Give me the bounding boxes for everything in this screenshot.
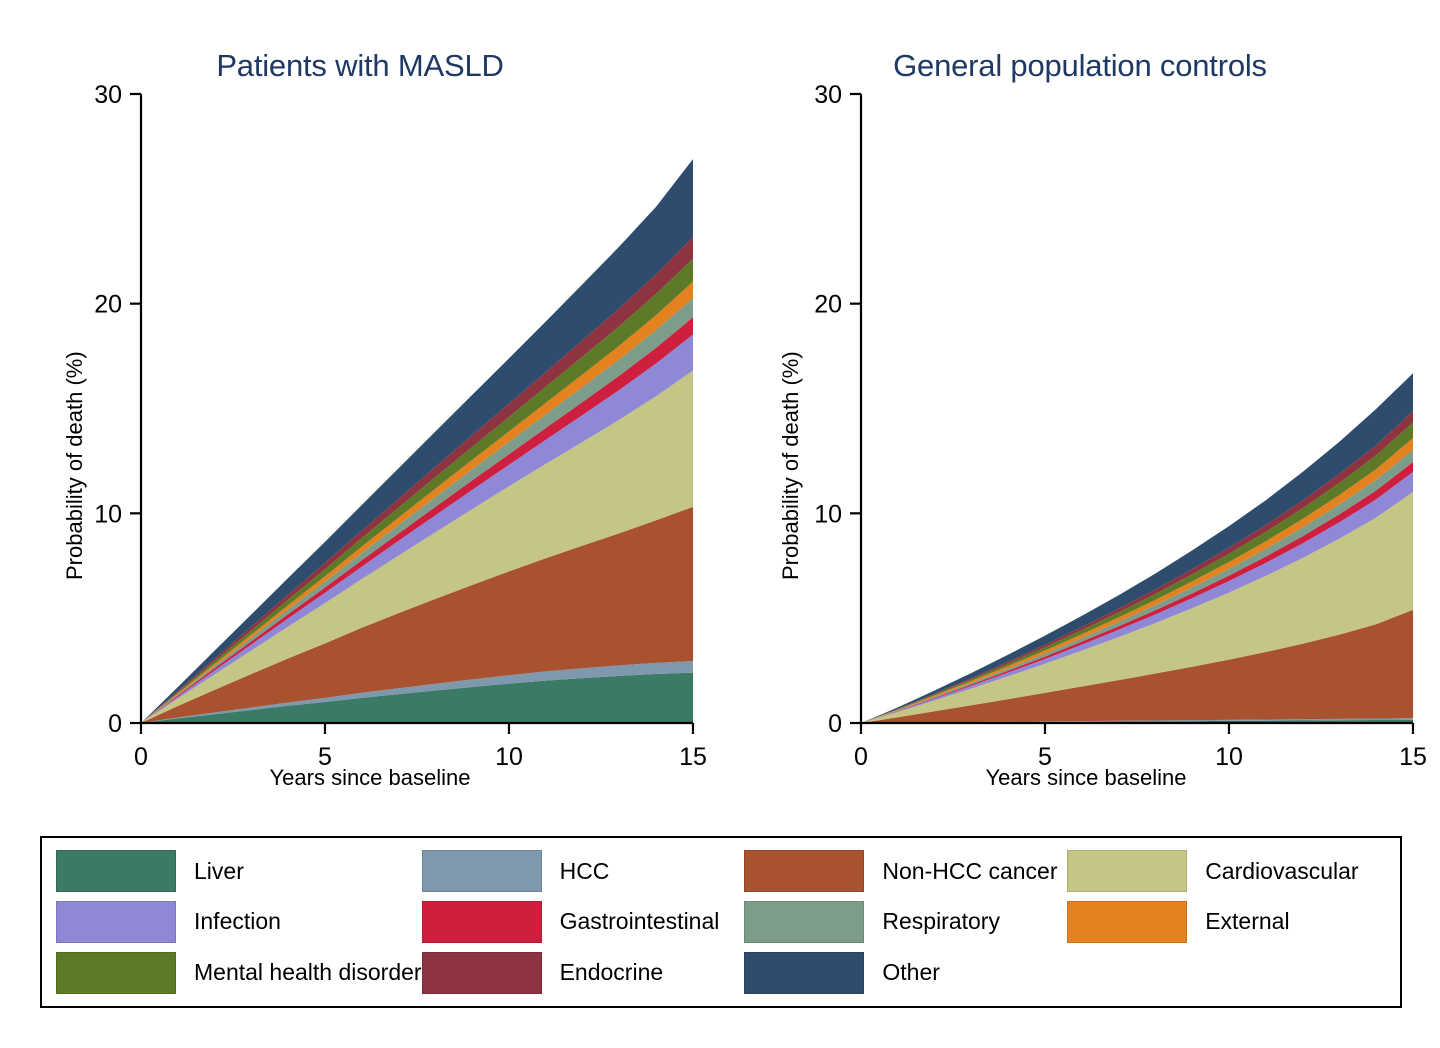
legend-swatch-hcc — [422, 850, 542, 892]
legend-swatch-respiratory — [744, 901, 864, 943]
legend-swatch-liver — [56, 850, 176, 892]
legend-label-gastrointestinal: Gastrointestinal — [560, 908, 720, 935]
y-tick-label-20: 20 — [94, 291, 122, 319]
legend-item-non_hcc_cancer[interactable]: Non-HCC cancer — [744, 850, 1067, 892]
legend-label-mental_health_disorder: Mental health disorder — [194, 959, 422, 986]
legend-label-other: Other — [882, 959, 940, 986]
figure-root: Patients with MASLD 0102030051015 Probab… — [0, 0, 1440, 1048]
y-tick-label-0: 0 — [828, 710, 842, 738]
y-tick-label-10: 10 — [814, 500, 842, 528]
y-axis-label-left: Probability of death (%) — [62, 351, 88, 580]
plot-area-right: 0102030051015 — [720, 0, 1440, 810]
legend-item-endocrine[interactable]: Endocrine — [422, 952, 745, 994]
legend-item-cardiovascular[interactable]: Cardiovascular — [1067, 850, 1390, 892]
x-axis-label-right: Years since baseline — [766, 765, 1406, 791]
legend-item-external[interactable]: External — [1067, 901, 1390, 943]
legend-swatch-cardiovascular — [1067, 850, 1187, 892]
y-axis-label-right: Probability of death (%) — [778, 351, 804, 580]
legend-swatch-endocrine — [422, 952, 542, 994]
y-tick-label-0: 0 — [108, 710, 122, 738]
x-axis-label-left: Years since baseline — [50, 765, 690, 791]
y-tick-label-10: 10 — [94, 500, 122, 528]
legend: LiverHCCNon-HCC cancerCardiovascularInfe… — [40, 836, 1402, 1008]
legend-label-external: External — [1205, 908, 1289, 935]
legend-item-gastrointestinal[interactable]: Gastrointestinal — [422, 901, 745, 943]
y-tick-label-20: 20 — [814, 291, 842, 319]
legend-item-infection[interactable]: Infection — [56, 901, 422, 943]
legend-grid: LiverHCCNon-HCC cancerCardiovascularInfe… — [42, 838, 1400, 1006]
legend-item-liver[interactable]: Liver — [56, 850, 422, 892]
y-tick-label-30: 30 — [814, 81, 842, 109]
legend-label-hcc: HCC — [560, 858, 610, 885]
legend-swatch-non_hcc_cancer — [744, 850, 864, 892]
legend-item-respiratory[interactable]: Respiratory — [744, 901, 1067, 943]
legend-label-non_hcc_cancer: Non-HCC cancer — [882, 858, 1057, 885]
legend-swatch-gastrointestinal — [422, 901, 542, 943]
legend-swatch-mental_health_disorder — [56, 952, 176, 994]
legend-label-respiratory: Respiratory — [882, 908, 1000, 935]
legend-item-mental_health_disorder[interactable]: Mental health disorder — [56, 952, 422, 994]
legend-swatch-external — [1067, 901, 1187, 943]
y-tick-label-30: 30 — [94, 81, 122, 109]
panel-general-population-controls: General population controls 010203005101… — [720, 0, 1440, 810]
legend-swatch-other — [744, 952, 864, 994]
legend-label-endocrine: Endocrine — [560, 959, 664, 986]
legend-label-infection: Infection — [194, 908, 281, 935]
legend-item-hcc[interactable]: HCC — [422, 850, 745, 892]
legend-swatch-infection — [56, 901, 176, 943]
legend-item-other[interactable]: Other — [744, 952, 1067, 994]
panels-container: Patients with MASLD 0102030051015 Probab… — [0, 0, 1440, 810]
panel-patients-with-masld: Patients with MASLD 0102030051015 Probab… — [0, 0, 720, 810]
legend-label-liver: Liver — [194, 858, 244, 885]
legend-label-cardiovascular: Cardiovascular — [1205, 858, 1358, 885]
plot-area-left: 0102030051015 — [0, 0, 720, 810]
